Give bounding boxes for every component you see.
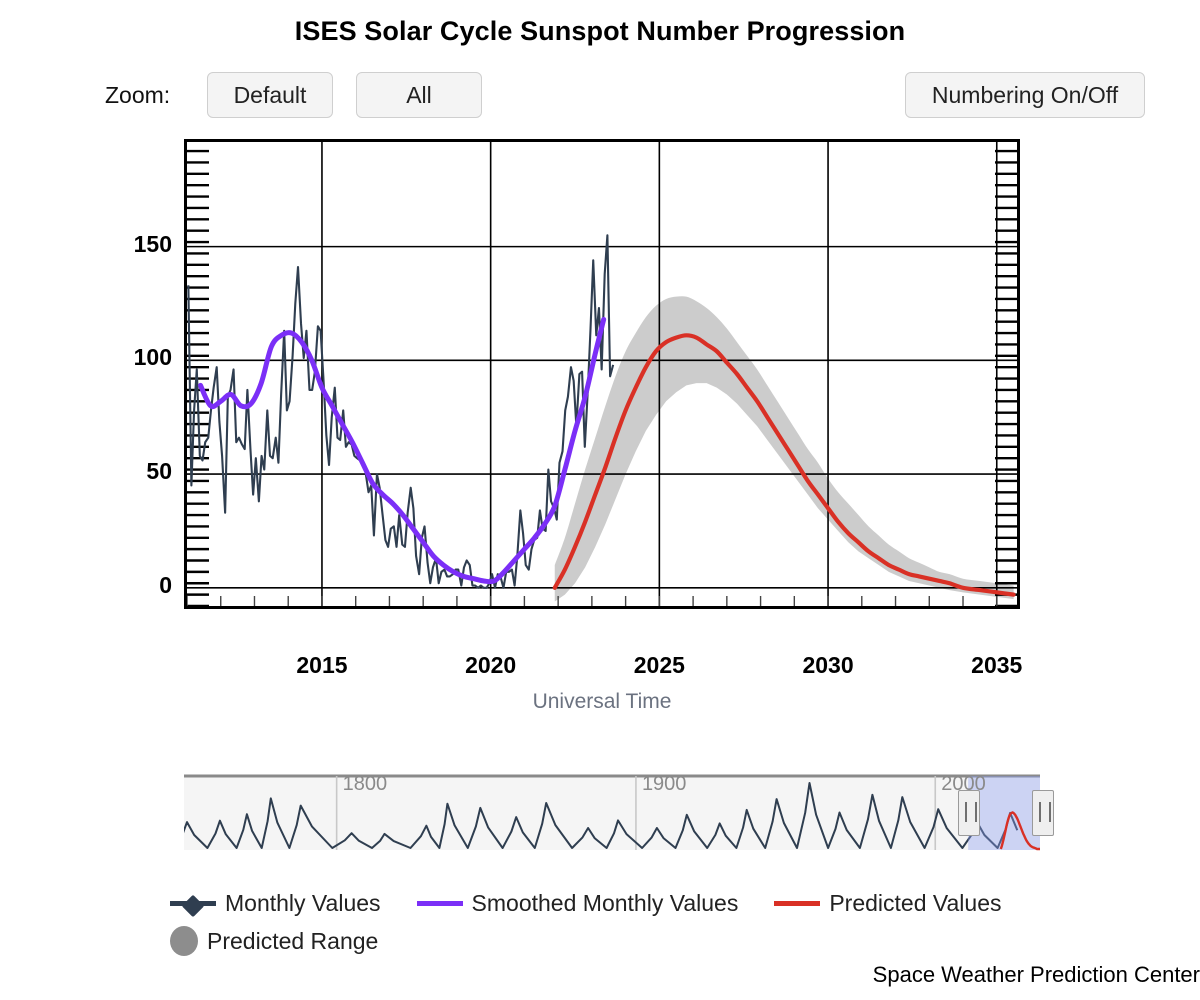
legend-label: Monthly Values [225, 890, 381, 917]
chart-legend: Monthly Values Smoothed Monthly Values P… [170, 884, 1130, 960]
attribution-text: Space Weather Prediction Center [873, 962, 1200, 988]
x-tick-label: 2015 [252, 652, 392, 679]
y-tick-label: 100 [52, 344, 172, 371]
x-tick-label: 2025 [589, 652, 729, 679]
x-axis-title: Universal Time [184, 690, 1020, 714]
legend-item-smoothed-monthly-values[interactable]: Smoothed Monthly Values [417, 890, 739, 917]
predicted-range-band [555, 296, 1014, 601]
legend-label: Predicted Range [207, 928, 378, 955]
y-tick-label: 50 [52, 458, 172, 485]
x-tick-label: 2030 [758, 652, 898, 679]
legend-item-predicted-values[interactable]: Predicted Values [774, 890, 1001, 917]
legend-label: Predicted Values [829, 890, 1001, 917]
navigator-year-label: 1800 [343, 773, 388, 796]
navigator-right-handle[interactable] [1032, 790, 1054, 836]
main-plot-svg[interactable] [187, 142, 1017, 606]
legend-item-predicted-range[interactable]: Predicted Range [170, 926, 378, 956]
y-tick-label: 150 [52, 231, 172, 258]
predicted-range-swatch-icon [170, 926, 198, 956]
legend-row-1: Monthly Values Smoothed Monthly Values P… [170, 884, 1130, 922]
plot-frame[interactable] [184, 139, 1020, 609]
navigator-svg[interactable] [184, 762, 1040, 854]
legend-row-2: Predicted Range [170, 922, 1130, 960]
monthly-values-swatch-icon [170, 901, 216, 906]
legend-item-monthly-values[interactable]: Monthly Values [170, 890, 381, 917]
predicted-values-swatch-icon [774, 901, 820, 906]
y-tick-label: 0 [52, 572, 172, 599]
range-navigator[interactable]: 180019002000 [184, 762, 1040, 854]
legend-label: Smoothed Monthly Values [472, 890, 739, 917]
navigator-year-label: 1900 [642, 773, 687, 796]
monthly-values-line[interactable] [188, 235, 613, 588]
smoothed-values-swatch-icon [417, 901, 463, 906]
x-tick-label: 2020 [421, 652, 561, 679]
navigator-left-handle[interactable] [958, 790, 980, 836]
x-tick-label: 2035 [927, 652, 1067, 679]
